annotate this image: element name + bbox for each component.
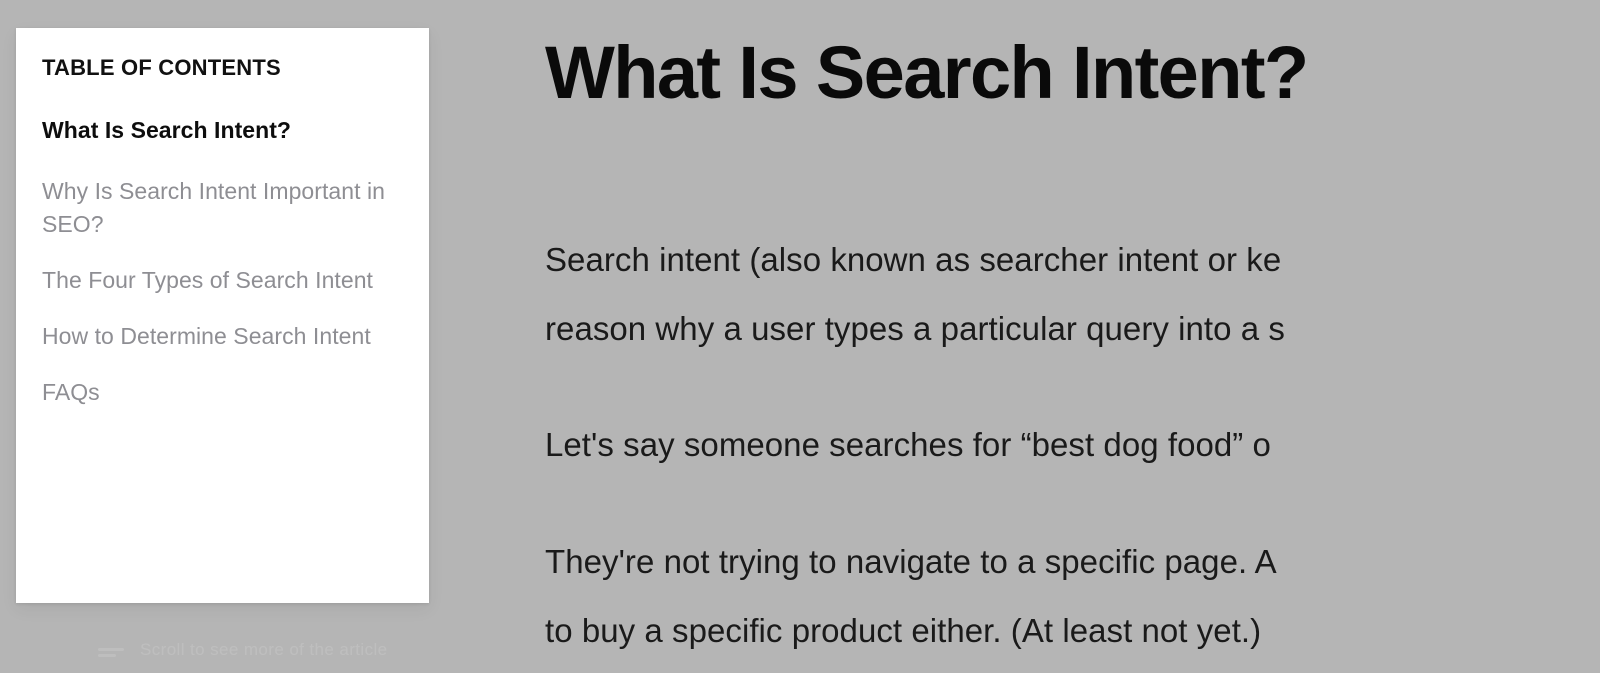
table-of-contents-list: What Is Search Intent? Why Is Search Int… (42, 114, 403, 409)
faded-overlay-strip: Scroll to see more of the article (96, 636, 526, 664)
table-of-contents-title: TABLE OF CONTENTS (42, 56, 403, 80)
page-title: What Is Search Intent? (545, 36, 1307, 110)
toc-item-what-is-search-intent[interactable]: What Is Search Intent? (42, 114, 403, 147)
article-content: What Is Search Intent? Search intent (al… (545, 0, 1600, 673)
faded-overlay-text: Scroll to see more of the article (140, 640, 388, 660)
article-paragraph-1: Search intent (also known as searcher in… (545, 225, 1285, 363)
article-page: TABLE OF CONTENTS What Is Search Intent?… (0, 0, 1600, 673)
table-of-contents-card: TABLE OF CONTENTS What Is Search Intent?… (16, 28, 429, 603)
toc-item-faqs[interactable]: FAQs (42, 376, 403, 409)
toc-item-why-is-search-intent-important-in-seo[interactable]: Why Is Search Intent Important in SEO? (42, 175, 403, 241)
article-paragraph-2: Let's say someone searches for “best dog… (545, 410, 1271, 479)
article-paragraph-3: They're not trying to navigate to a spec… (545, 527, 1277, 665)
lines-icon (96, 640, 130, 660)
toc-item-the-four-types-of-search-intent[interactable]: The Four Types of Search Intent (42, 264, 403, 297)
toc-item-how-to-determine-search-intent[interactable]: How to Determine Search Intent (42, 320, 403, 353)
